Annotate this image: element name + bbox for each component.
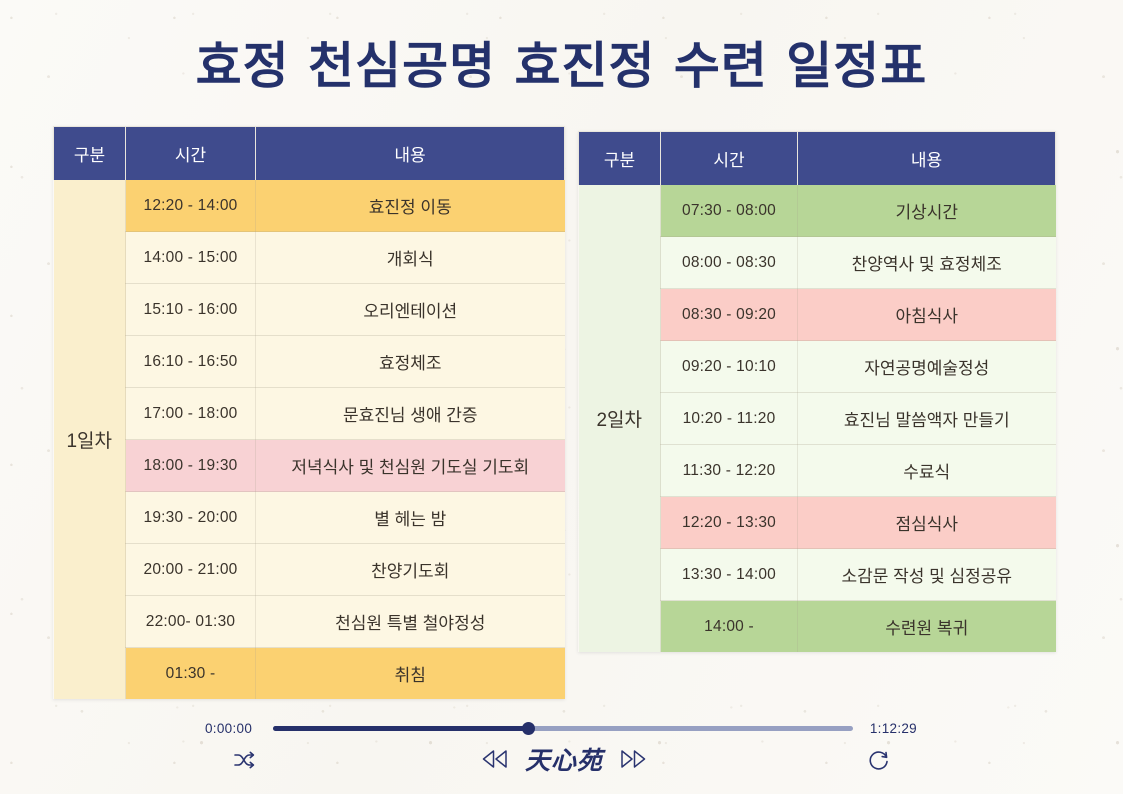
- table-row: 1일차12:20 - 14:00효진정 이동: [54, 180, 565, 232]
- fast-forward-icon[interactable]: [616, 742, 650, 776]
- schedule-table-day1: 구분 시간 내용 1일차12:20 - 14:00효진정 이동14:00 - 1…: [53, 126, 565, 699]
- cell-time: 11:30 - 12:20: [661, 445, 798, 497]
- day-label-cell: 1일차: [54, 180, 126, 699]
- total-time-label: 1:12:29: [865, 721, 917, 736]
- cell-time: 12:20 - 13:30: [661, 497, 798, 549]
- cell-content: 문효진님 생애 간증: [256, 388, 565, 440]
- cell-content: 효정체조: [256, 336, 565, 388]
- cell-content: 별 헤는 밤: [256, 492, 565, 544]
- column-header-time: 시간: [661, 132, 798, 186]
- cell-content: 저녁식사 및 천심원 기도실 기도회: [256, 440, 565, 492]
- table-row: 2일차07:30 - 08:00기상시간: [579, 185, 1056, 237]
- day-label-cell: 2일차: [579, 185, 661, 652]
- seek-slider-filled: [273, 726, 528, 731]
- seek-slider-thumb[interactable]: [522, 722, 535, 735]
- cell-content: 수료식: [798, 445, 1056, 497]
- player-controls: 天心苑: [0, 738, 1123, 788]
- table-header-row: 구분 시간 내용: [579, 132, 1056, 186]
- elapsed-time-label: 0:00:00: [205, 721, 261, 736]
- progress-row: 0:00:00 1:12:29: [205, 718, 917, 738]
- player-brand-logo: 天心苑: [512, 738, 616, 780]
- cell-time: 19:30 - 20:00: [126, 492, 256, 544]
- cell-time: 12:20 - 14:00: [126, 180, 256, 232]
- cell-content: 찬양기도회: [256, 544, 565, 596]
- column-header-time: 시간: [126, 127, 256, 181]
- cell-content: 소감문 작성 및 심정공유: [798, 549, 1056, 601]
- cell-time: 16:10 - 16:50: [126, 336, 256, 388]
- column-header-division: 구분: [579, 132, 661, 186]
- cell-content: 오리엔테이션: [256, 284, 565, 336]
- media-player-bar: 0:00:00 1:12:29: [0, 706, 1123, 794]
- cell-time: 14:00 - 15:00: [126, 232, 256, 284]
- cell-time: 10:20 - 11:20: [661, 393, 798, 445]
- cell-time: 17:00 - 18:00: [126, 388, 256, 440]
- shuffle-icon[interactable]: [228, 744, 262, 778]
- cell-content: 효진정 이동: [256, 180, 565, 232]
- cell-time: 07:30 - 08:00: [661, 185, 798, 237]
- schedule-page: 효정 천심공명 효진정 수련 일정표 구분 시간 내용 1일차12:20 - 1…: [0, 0, 1123, 794]
- rewind-icon[interactable]: [478, 742, 512, 776]
- cell-time: 22:00- 01:30: [126, 596, 256, 648]
- cell-content: 취침: [256, 648, 565, 700]
- cell-time: 18:00 - 19:30: [126, 440, 256, 492]
- column-header-division: 구분: [54, 127, 126, 181]
- table-body-day2: 2일차07:30 - 08:00기상시간08:00 - 08:30찬양역사 및 …: [579, 185, 1056, 652]
- cell-time: 08:00 - 08:30: [661, 237, 798, 289]
- cell-content: 기상시간: [798, 185, 1056, 237]
- cell-content: 개회식: [256, 232, 565, 284]
- cell-time: 14:00 -: [661, 601, 798, 653]
- table-row: 17:00 - 18:00문효진님 생애 간증: [54, 388, 565, 440]
- cell-content: 자연공명예술정성: [798, 341, 1056, 393]
- table-row: 22:00- 01:30천심원 특별 철야정성: [54, 596, 565, 648]
- cell-content: 찬양역사 및 효정체조: [798, 237, 1056, 289]
- table-row: 01:30 -취침: [54, 648, 565, 700]
- table-row: 16:10 - 16:50효정체조: [54, 336, 565, 388]
- cell-content: 수련원 복귀: [798, 601, 1056, 653]
- cell-content: 효진님 말씀액자 만들기: [798, 393, 1056, 445]
- column-header-content: 내용: [798, 132, 1056, 186]
- cell-time: 08:30 - 09:20: [661, 289, 798, 341]
- schedule-table-day2: 구분 시간 내용 2일차07:30 - 08:00기상시간08:00 - 08:…: [578, 131, 1056, 652]
- cell-time: 09:20 - 10:10: [661, 341, 798, 393]
- table-row: 18:00 - 19:30저녁식사 및 천심원 기도실 기도회: [54, 440, 565, 492]
- table-body-day1: 1일차12:20 - 14:00효진정 이동14:00 - 15:00개회식15…: [54, 180, 565, 699]
- column-header-content: 내용: [256, 127, 565, 181]
- cell-time: 01:30 -: [126, 648, 256, 700]
- table-row: 14:00 - 15:00개회식: [54, 232, 565, 284]
- table-row: 15:10 - 16:00오리엔테이션: [54, 284, 565, 336]
- cell-time: 15:10 - 16:00: [126, 284, 256, 336]
- cell-content: 아침식사: [798, 289, 1056, 341]
- table-row: 20:00 - 21:00찬양기도회: [54, 544, 565, 596]
- cell-content: 점심식사: [798, 497, 1056, 549]
- table-row: 19:30 - 20:00별 헤는 밤: [54, 492, 565, 544]
- repeat-icon[interactable]: [862, 744, 896, 778]
- table-header-row: 구분 시간 내용: [54, 127, 565, 181]
- cell-time: 13:30 - 14:00: [661, 549, 798, 601]
- page-title: 효정 천심공명 효진정 수련 일정표: [0, 26, 1123, 98]
- cell-time: 20:00 - 21:00: [126, 544, 256, 596]
- seek-slider[interactable]: [273, 726, 853, 731]
- cell-content: 천심원 특별 철야정성: [256, 596, 565, 648]
